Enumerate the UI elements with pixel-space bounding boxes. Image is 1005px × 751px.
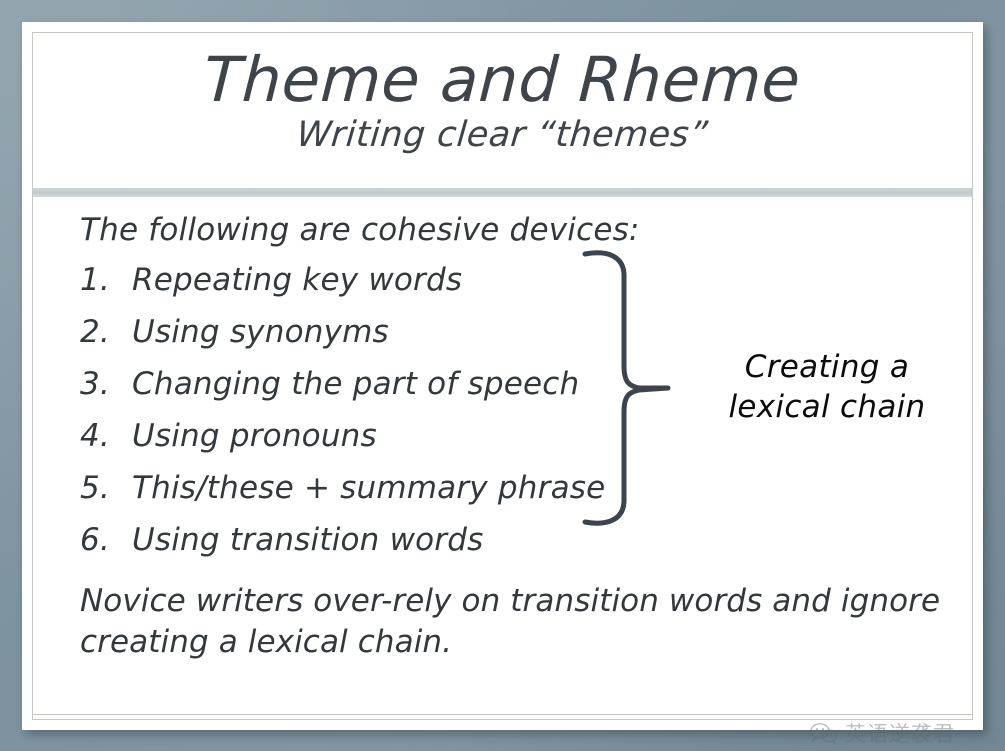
list-item-number: 4. [80,418,132,454]
list-item-label: Using pronouns [132,418,377,454]
list-item: 4. Using pronouns [80,418,605,470]
list-item: 1. Repeating key words [80,262,605,314]
page-title: Theme and Rheme [33,33,972,112]
list-item-label: Repeating key words [132,262,462,298]
list-item-number: 6. [80,522,132,558]
slide-backdrop: Theme and Rheme Writing clear “themes” T… [0,0,1005,751]
list-item: 2. Using synonyms [80,314,605,366]
footer-divider [33,714,972,715]
list-item-label: Using synonyms [132,314,389,350]
list-item-label: Changing the part of speech [132,366,579,402]
list-item-number: 2. [80,314,132,350]
list-item-number: 1. [80,262,132,298]
list-item: 5. This/these + summary phrase [80,470,605,522]
watermark: 英语逆袭君 [809,716,955,750]
wechat-icon [809,721,839,745]
title-block: Theme and Rheme Writing clear “themes” [33,33,972,183]
closing-paragraph: Novice writers over-rely on transition w… [80,581,960,663]
cohesive-devices-list: 1. Repeating key words 2. Using synonyms… [80,262,605,574]
list-item: 3. Changing the part of speech [80,366,605,418]
lead-line: The following are cohesive devices: [80,212,640,248]
list-item: 6. Using transition words [80,522,605,574]
list-item-number: 3. [80,366,132,402]
watermark-label: 英语逆袭君 [845,718,955,748]
slide-body: The following are cohesive devices: 1. R… [33,200,972,715]
curly-brace-icon [573,240,683,540]
page-subtitle: Writing clear “themes” [33,112,972,155]
slide-card: Theme and Rheme Writing clear “themes” T… [22,22,983,730]
list-item-label: Using transition words [132,522,483,558]
list-item-number: 5. [80,470,132,506]
callout-text: Creating a lexical chain [693,348,961,427]
title-divider [33,188,972,197]
list-item-label: This/these + summary phrase [132,470,605,506]
